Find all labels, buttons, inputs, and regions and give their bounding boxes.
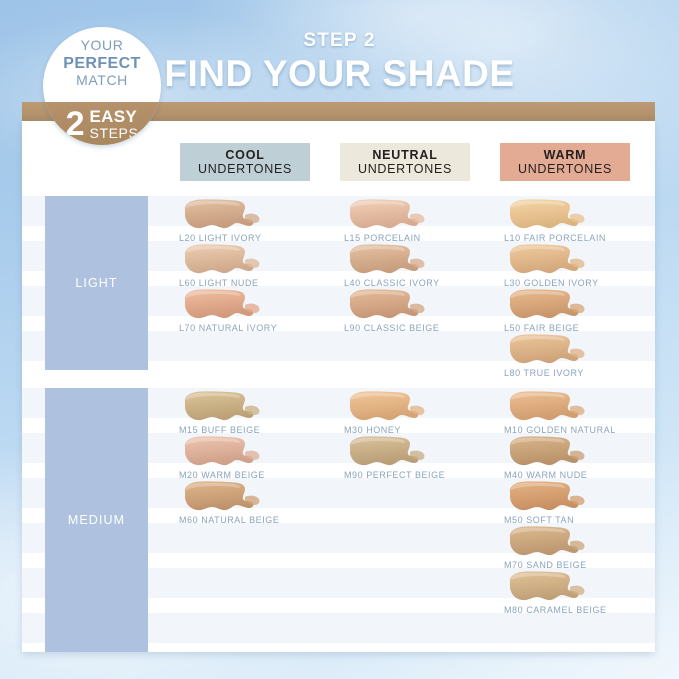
shade-cell[interactable]: M20 WARM BEIGE [167,433,327,463]
shade-cell[interactable]: M30 HONEY [332,388,492,418]
column-header-warm: WARMUNDERTONES [500,143,630,181]
shade-section-medium: MEDIUM M15 BUFF BEIGE M30 HONEY [22,388,655,658]
shade-cell[interactable]: M90 PERFECT BEIGE [332,433,492,463]
badge-easy-steps: EASY STEPS [90,108,139,140]
shade-swatch-icon [344,197,428,233]
shade-cell[interactable]: M50 SOFT TAN [492,478,652,508]
shade-name-label: L70 NATURAL IVORY [167,323,327,333]
shade-cell[interactable]: M10 GOLDEN NATURAL [492,388,652,418]
shade-swatch-icon [504,479,588,515]
shade-name-label: L80 TRUE IVORY [492,368,652,378]
column-header-subtitle: UNDERTONES [198,162,292,176]
column-header-cool: COOLUNDERTONES [180,143,310,181]
shade-cell[interactable]: L40 CLASSIC IVORY [332,241,492,271]
shade-cell[interactable]: L20 LIGHT IVORY [167,196,327,226]
badge-line-perfect: PERFECT [43,55,161,73]
shade-name-label: M60 NATURAL BEIGE [167,515,327,525]
shade-cell[interactable]: M15 BUFF BEIGE [167,388,327,418]
shade-name-label: M10 GOLDEN NATURAL [492,425,652,435]
shade-swatch-icon [504,524,588,560]
shade-name-label: L60 LIGHT NUDE [167,278,327,288]
shade-name-label: L10 FAIR PORCELAIN [492,233,652,243]
column-header-subtitle: UNDERTONES [358,162,452,176]
shade-name-label: L20 LIGHT IVORY [167,233,327,243]
shade-name-label: M20 WARM BEIGE [167,470,327,480]
shade-name-label: M40 WARM NUDE [492,470,652,480]
badge-line-steps: STEPS [90,126,139,140]
shade-name-label: M15 BUFF BEIGE [167,425,327,435]
badge-line-your: YOUR [81,37,124,53]
shade-swatch-icon [179,197,263,233]
column-headers: COOLUNDERTONESNEUTRALUNDERTONESWARMUNDER… [22,143,655,181]
shade-swatch-icon [179,287,263,323]
shade-cell[interactable]: L50 FAIR BEIGE [492,286,652,316]
column-header-title: COOL [225,148,264,162]
shade-name-label: L50 FAIR BEIGE [492,323,652,333]
column-header-title: WARM [544,148,587,162]
shade-name-label: L30 GOLDEN IVORY [492,278,652,288]
shade-swatch-icon [344,287,428,323]
badge-line-easy: EASY [90,108,139,125]
shade-swatch-icon [179,434,263,470]
shade-swatch-icon [179,242,263,278]
shade-cell[interactable]: L10 FAIR PORCELAIN [492,196,652,226]
shade-cell[interactable]: L60 LIGHT NUDE [167,241,327,271]
shade-name-label: M50 SOFT TAN [492,515,652,525]
shade-swatch-icon [504,389,588,425]
shade-name-label: M30 HONEY [332,425,492,435]
shade-swatch-icon [504,197,588,233]
badge-line-match: MATCH [43,73,161,89]
shade-grid: LIGHT L20 LIGHT IVORY L15 PORCELAIN [22,196,655,658]
shade-cell[interactable]: M60 NATURAL BEIGE [167,478,327,508]
perfect-match-badge: YOUR PERFECT MATCH 2 EASY STEPS [43,27,161,145]
shade-name-label: M70 SAND BEIGE [492,560,652,570]
shade-name-label: M90 PERFECT BEIGE [332,470,492,480]
depth-label-medium: MEDIUM [45,388,148,652]
shade-section-light: LIGHT L20 LIGHT IVORY L15 PORCELAIN [22,196,655,376]
column-header-title: NEUTRAL [372,148,437,162]
shade-name-label: M80 CARAMEL BEIGE [492,605,652,615]
shade-swatch-icon [179,389,263,425]
badge-bottom-text: 2 EASY STEPS [43,107,161,141]
shade-swatch-icon [504,569,588,605]
column-header-neutral: NEUTRALUNDERTONES [340,143,470,181]
badge-number-two: 2 [66,107,85,141]
shade-cell[interactable]: M40 WARM NUDE [492,433,652,463]
shade-finder-page: STEP 2 FIND YOUR SHADE YOUR PERFECT MATC… [0,0,679,679]
shade-cell[interactable]: M70 SAND BEIGE [492,523,652,553]
shade-cell[interactable]: L80 TRUE IVORY [492,331,652,361]
shade-cell[interactable]: L70 NATURAL IVORY [167,286,327,316]
badge-top-text: YOUR PERFECT MATCH [43,37,161,88]
shade-swatch-icon [179,479,263,515]
shade-name-label: L90 CLASSIC BEIGE [332,323,492,333]
shade-swatch-icon [344,242,428,278]
shade-swatch-icon [504,332,588,368]
shade-swatch-icon [504,434,588,470]
depth-label-light: LIGHT [45,196,148,370]
shade-name-label: L40 CLASSIC IVORY [332,278,492,288]
shade-swatch-icon [344,434,428,470]
shade-swatch-icon [344,389,428,425]
shade-cell[interactable]: M80 CARAMEL BEIGE [492,568,652,598]
shade-swatch-icon [504,242,588,278]
shade-cell[interactable]: L90 CLASSIC BEIGE [332,286,492,316]
shade-cell[interactable]: L15 PORCELAIN [332,196,492,226]
shade-swatch-icon [504,287,588,323]
shade-cell[interactable]: L30 GOLDEN IVORY [492,241,652,271]
column-header-subtitle: UNDERTONES [518,162,612,176]
shade-name-label: L15 PORCELAIN [332,233,492,243]
